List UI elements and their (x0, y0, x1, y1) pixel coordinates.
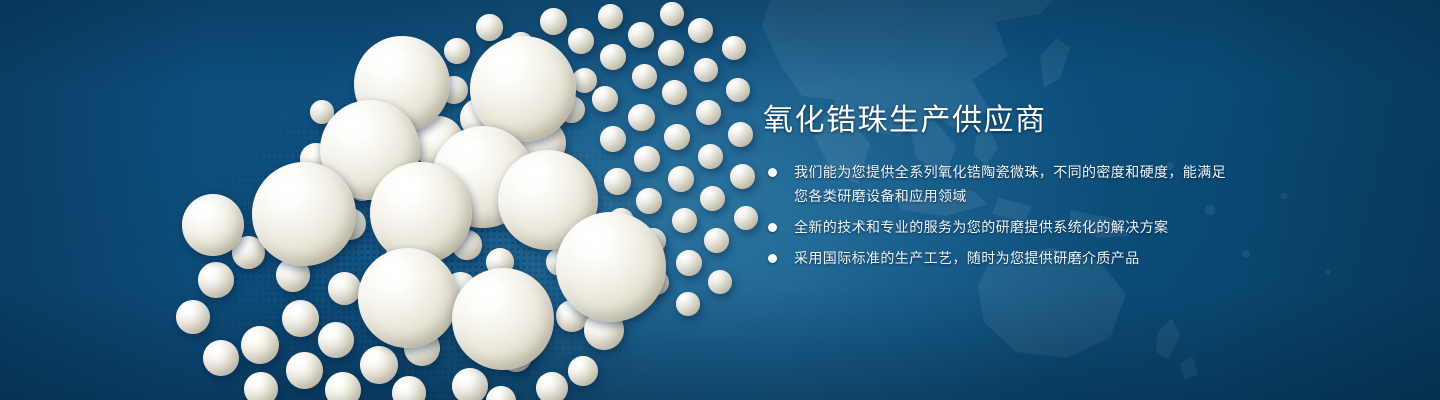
feature-list: 我们能为您提供全系列氧化锆陶瓷微珠，不同的密度和硬度，能满足您各类研磨设备和应用… (763, 160, 1233, 270)
list-item-label: 采用国际标准的生产工艺，随时为您提供研磨介质产品 (794, 250, 1140, 266)
page-title: 氧化锆珠生产供应商 (763, 104, 1233, 138)
bullet-dot-icon (768, 168, 777, 177)
banner-copy: 氧化锆珠生产供应商 我们能为您提供全系列氧化锆陶瓷微珠，不同的密度和硬度，能满足… (763, 104, 1233, 270)
list-item: 我们能为您提供全系列氧化锆陶瓷微珠，不同的密度和硬度，能满足您各类研磨设备和应用… (763, 160, 1233, 208)
bullet-dot-icon (768, 223, 777, 232)
bullet-dot-icon (768, 254, 777, 263)
list-item-label: 全新的技术和专业的服务为您的研磨提供系统化的解决方案 (794, 219, 1168, 235)
list-item: 全新的技术和专业的服务为您的研磨提供系统化的解决方案 (763, 215, 1233, 239)
hero-banner: 氧化锆珠生产供应商 我们能为您提供全系列氧化锆陶瓷微珠，不同的密度和硬度，能满足… (0, 0, 1440, 400)
list-item-label: 我们能为您提供全系列氧化锆陶瓷微珠，不同的密度和硬度，能满足您各类研磨设备和应用… (794, 164, 1226, 204)
list-item: 采用国际标准的生产工艺，随时为您提供研磨介质产品 (763, 246, 1233, 270)
